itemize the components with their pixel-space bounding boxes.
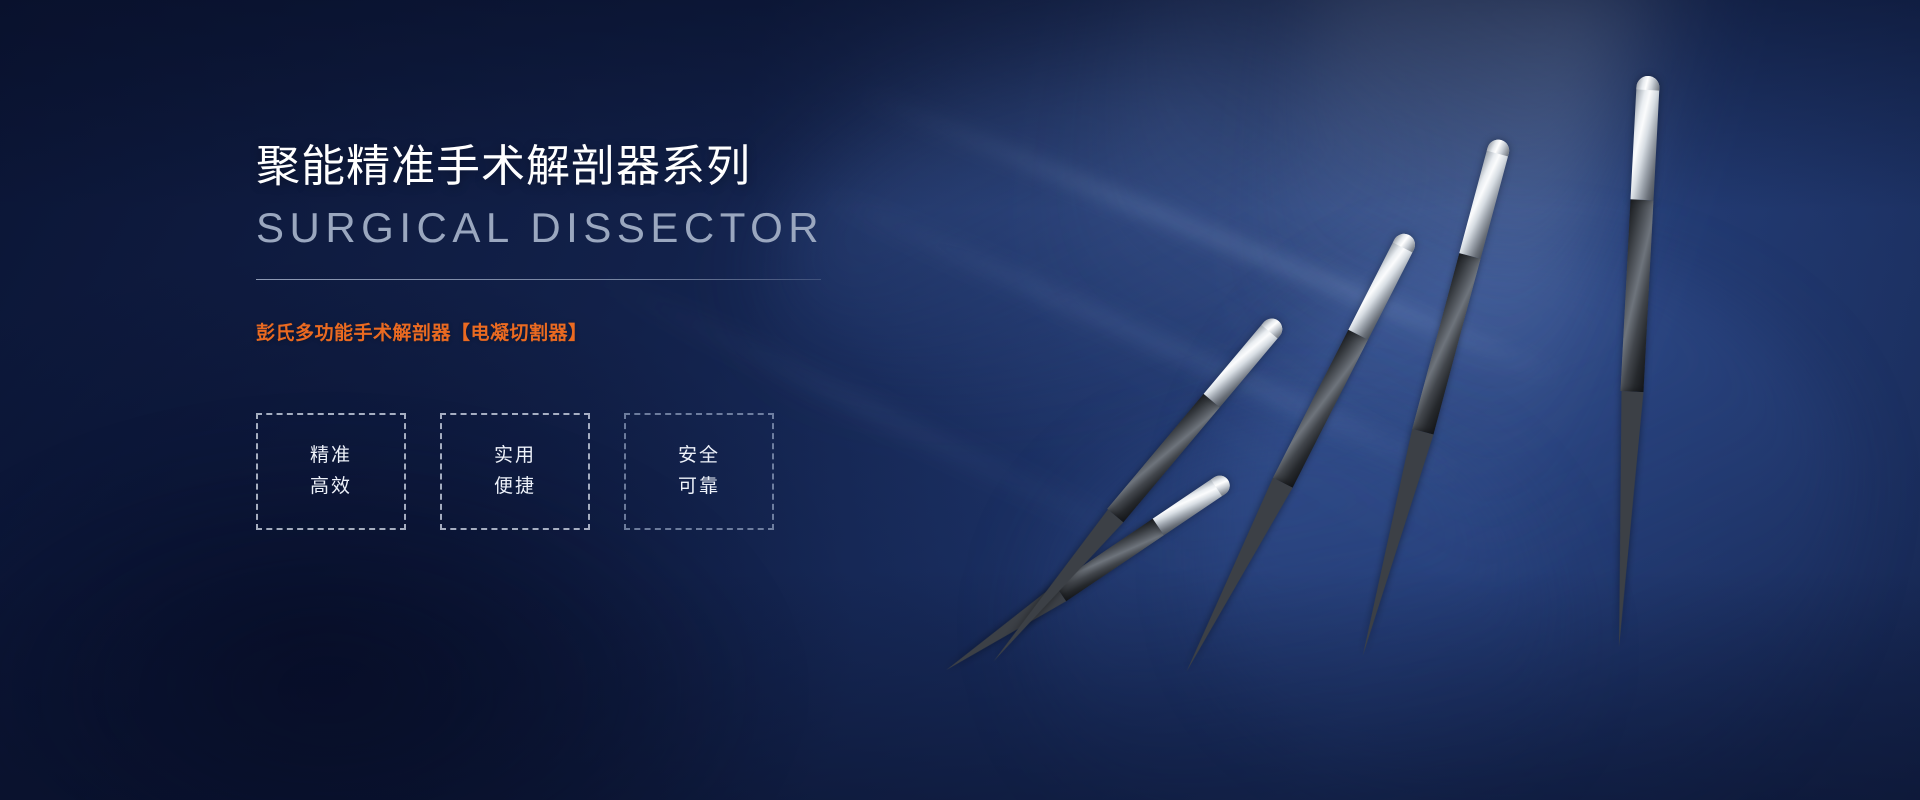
background-light-beam-2 — [1229, 0, 1631, 486]
surgical-dissector-4 — [1352, 137, 1511, 658]
background-instrument-blur-1 — [856, 88, 1564, 382]
feature-box-3-line-2: 可靠 — [678, 475, 720, 499]
instrument-tip — [1352, 429, 1433, 659]
feature-box-2[interactable]: 实用 便捷 — [440, 413, 590, 530]
banner-subtitle: SURGICAL DISSECTOR — [256, 204, 876, 251]
surgical-dissector-2 — [985, 314, 1286, 668]
instrument-tip — [985, 509, 1122, 667]
surgical-dissector-3 — [1177, 230, 1419, 677]
banner-text-block: 聚能精准手术解剖器系列 SURGICAL DISSECTOR 彭氏多功能手术解剖… — [256, 140, 876, 530]
product-banner: 聚能精准手术解剖器系列 SURGICAL DISSECTOR 彭氏多功能手术解剖… — [0, 0, 1920, 800]
feature-box-group: 精准 高效 实用 便捷 安全 可靠 — [256, 413, 876, 530]
title-divider — [256, 279, 821, 280]
feature-box-2-line-2: 便捷 — [494, 475, 536, 499]
background-hand-blur — [1210, 250, 1850, 800]
feature-box-1-line-1: 精准 — [310, 444, 352, 468]
instrument-handle — [1153, 472, 1234, 536]
background-light-beam — [995, 0, 1704, 637]
instrument-tip — [1608, 391, 1643, 648]
surgical-dissector-1 — [941, 472, 1234, 679]
instrument-tip — [941, 585, 1067, 679]
feature-box-3-line-1: 安全 — [678, 444, 720, 468]
feature-box-3[interactable]: 安全 可靠 — [624, 413, 774, 530]
instrument-handle — [1348, 230, 1418, 340]
background-vignette-bottom — [0, 570, 1920, 800]
feature-box-1-line-2: 高效 — [310, 475, 352, 499]
instrument-handle — [1459, 137, 1511, 259]
feature-box-1[interactable]: 精准 高效 — [256, 413, 406, 530]
instrument-shaft — [1412, 253, 1480, 434]
instrument-shaft — [1620, 199, 1653, 392]
background-hand-blur-2 — [1040, 430, 1560, 800]
instrument-handle — [1631, 75, 1660, 200]
feature-box-2-line-1: 实用 — [494, 444, 536, 468]
instrument-tip — [1177, 478, 1293, 677]
instrument-shaft — [1055, 519, 1164, 602]
surgical-dissector-5 — [1607, 75, 1660, 647]
background-instrument-blur-2 — [818, 188, 1461, 481]
instrument-handle — [1204, 314, 1287, 407]
instrument-shaft — [1107, 394, 1220, 522]
product-line-label: 彭氏多功能手术解剖器【电凝切割器】 — [256, 318, 876, 345]
instrument-shaft — [1273, 330, 1368, 488]
banner-title: 聚能精准手术解剖器系列 — [256, 140, 876, 194]
